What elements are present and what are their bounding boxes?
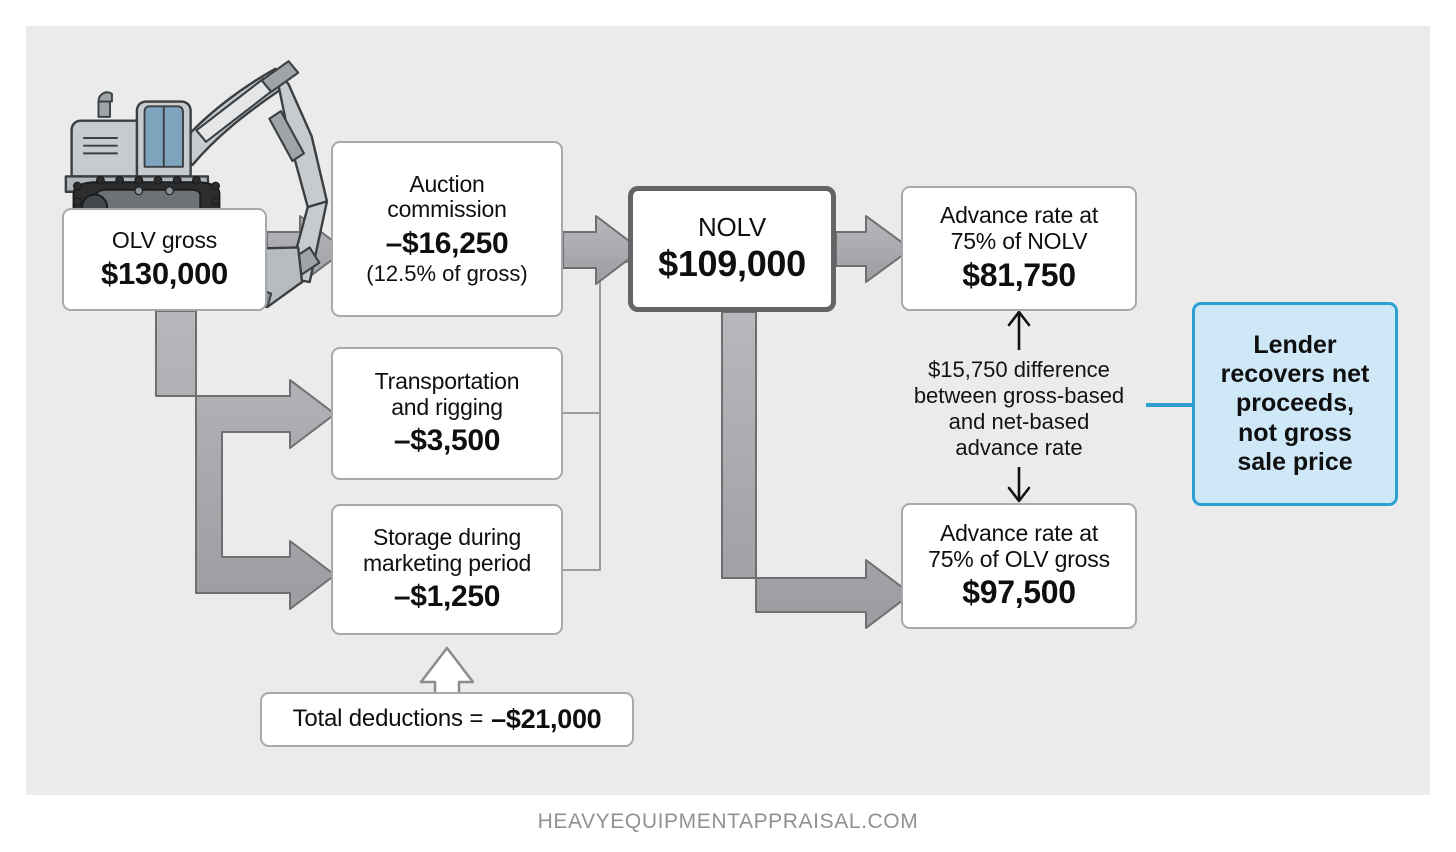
- auction-commission-label-line2: commission: [387, 197, 506, 223]
- transportation-rigging-label-line2: and rigging: [391, 395, 503, 421]
- total-deductions-value: –$21,000: [491, 704, 601, 734]
- advance-olv-value: $97,500: [962, 575, 1076, 611]
- node-advance-rate-olv-gross: Advance rate at 75% of OLV gross $97,500: [901, 503, 1137, 629]
- total-deductions-label: Total deductions =: [293, 706, 484, 733]
- difference-annotation: $15,750 difference between gross-based a…: [896, 357, 1142, 461]
- lender-callout-line1: Lender: [1221, 331, 1370, 360]
- lender-callout-line2: recovers net: [1221, 360, 1370, 389]
- node-nolv: NOLV $109,000: [628, 186, 836, 312]
- diagram-canvas: OLV gross $130,000 Auction commission –$…: [0, 0, 1456, 852]
- difference-line3: and net-based: [896, 409, 1142, 435]
- node-transportation-rigging: Transportation and rigging –$3,500: [331, 347, 563, 480]
- transportation-rigging-value: –$3,500: [394, 424, 500, 458]
- nolv-value: $109,000: [658, 244, 806, 284]
- storage-marketing-value: –$1,250: [394, 580, 500, 614]
- node-auction-commission: Auction commission –$16,250 (12.5% of gr…: [331, 141, 563, 317]
- auction-commission-value: –$16,250: [386, 227, 509, 261]
- advance-olv-label-line2: 75% of OLV gross: [928, 547, 1110, 573]
- advance-nolv-value: $81,750: [962, 258, 1076, 294]
- advance-olv-label-line1: Advance rate at: [940, 521, 1098, 547]
- node-olv-gross: OLV gross $130,000: [62, 208, 267, 311]
- difference-line2: between gross-based: [896, 383, 1142, 409]
- auction-commission-sub: (12.5% of gross): [366, 262, 527, 287]
- olv-gross-value: $130,000: [101, 257, 228, 292]
- lender-callout-line4: not gross: [1221, 419, 1370, 448]
- node-storage-marketing: Storage during marketing period –$1,250: [331, 504, 563, 635]
- storage-marketing-label-line2: marketing period: [363, 551, 531, 577]
- advance-nolv-label-line1: Advance rate at: [940, 203, 1098, 229]
- transportation-rigging-label-line1: Transportation: [375, 369, 520, 395]
- footer-watermark: HEAVYEQUIPMENTAPPRAISAL.COM: [0, 810, 1456, 834]
- lender-callout-line3: proceeds,: [1221, 389, 1370, 418]
- auction-commission-label-line1: Auction: [409, 172, 484, 198]
- callout-lender-recovers-net-proceeds: Lender recovers net proceeds, not gross …: [1192, 302, 1398, 506]
- olv-gross-label: OLV gross: [112, 228, 217, 254]
- lender-callout-line5: sale price: [1221, 448, 1370, 477]
- difference-line1: $15,750 difference: [896, 357, 1142, 383]
- nolv-label: NOLV: [698, 213, 766, 242]
- node-total-deductions: Total deductions = –$21,000: [260, 692, 634, 747]
- storage-marketing-label-line1: Storage during: [373, 525, 521, 551]
- advance-nolv-label-line2: 75% of NOLV: [951, 229, 1088, 255]
- node-advance-rate-nolv: Advance rate at 75% of NOLV $81,750: [901, 186, 1137, 311]
- difference-line4: advance rate: [896, 435, 1142, 461]
